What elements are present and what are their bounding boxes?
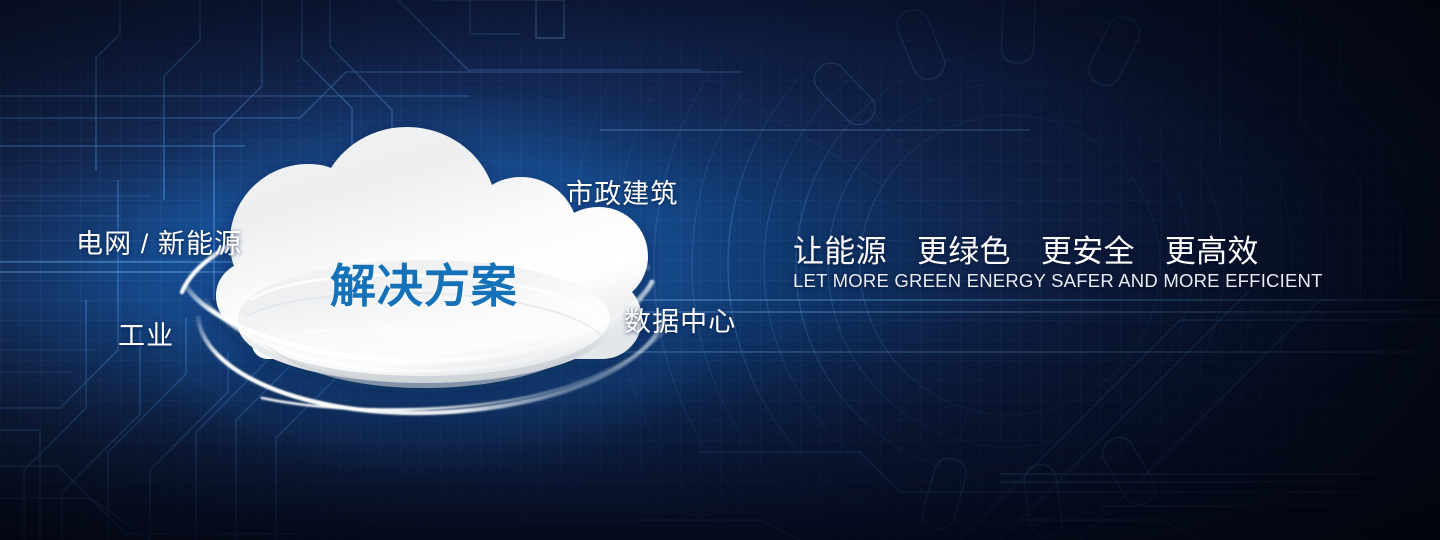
callout-label-industry: 工业	[118, 314, 174, 353]
slogan-chinese: 让能源更绿色更安全更高效	[793, 226, 1259, 271]
solution-banner: 电网 / 新能源 工业 市政建筑 数据中心 解决方案 让能源更绿色更安全更高效 …	[0, 0, 1440, 540]
callout-label-grid-new-energy: 电网 / 新能源	[76, 222, 242, 261]
slogan-part-4: 更高效	[1165, 234, 1259, 269]
cloud-title: 解决方案	[330, 250, 518, 316]
callout-label-municipal: 市政建筑	[566, 172, 678, 211]
slogan-part-3: 更安全	[1041, 234, 1135, 269]
slogan-part-1: 让能源	[793, 234, 887, 269]
callout-label-data-center: 数据中心	[624, 300, 736, 339]
slogan-english: LET MORE GREEN ENERGY SAFER AND MORE EFF…	[793, 270, 1323, 292]
slogan-part-2: 更绿色	[917, 234, 1011, 269]
